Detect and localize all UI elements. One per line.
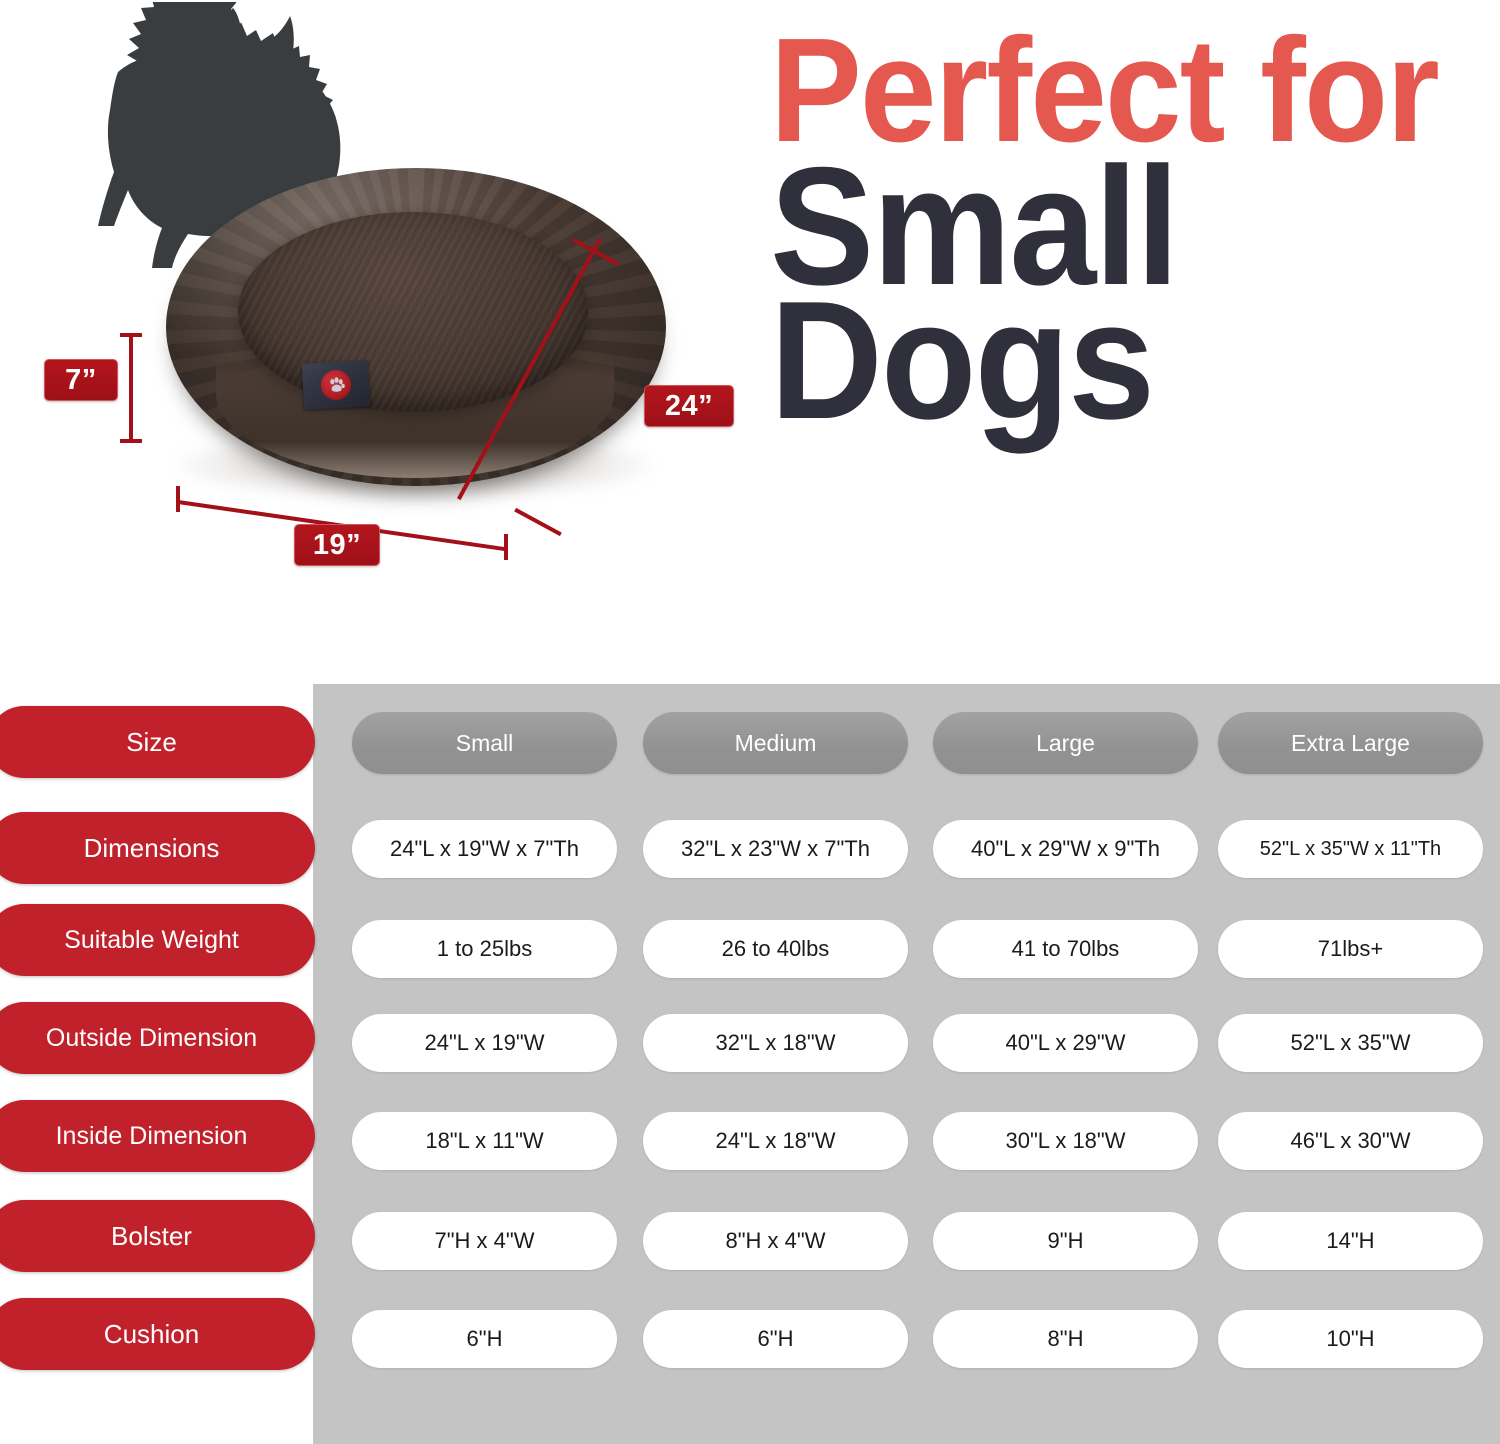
- callout-width: 19”: [294, 524, 380, 566]
- spec-row-label-size: Size: [0, 706, 315, 778]
- spec-cell: 52"L x 35"W: [1218, 1014, 1483, 1072]
- dimension-cap-top: [120, 333, 142, 337]
- specification-table: SizeDimensionsSuitable WeightOutside Dim…: [0, 672, 1500, 1444]
- spec-cell: 18"L x 11"W: [352, 1112, 617, 1170]
- paw-print-icon: [320, 369, 352, 401]
- spec-cell: 6"H: [643, 1310, 908, 1368]
- spec-cell: 24"L x 18"W: [643, 1112, 908, 1170]
- headline-block: Perfect for Small Dogs: [770, 22, 1490, 438]
- spec-row-label-column: SizeDimensionsSuitable WeightOutside Dim…: [0, 672, 320, 1444]
- dimension-cap-bottom: [120, 439, 142, 443]
- spec-cell: 6"H: [352, 1310, 617, 1368]
- hero-section: 7” 19” 24” Perfect for Small Dogs: [0, 0, 1500, 672]
- spec-row-label: Bolster: [0, 1200, 315, 1272]
- spec-cell: 24"L x 19"W x 7"Th: [352, 820, 617, 878]
- spec-cell: 52"L x 35"W x 11"Th: [1218, 820, 1483, 878]
- spec-cell: 32"L x 18"W: [643, 1014, 908, 1072]
- spec-cell: 46"L x 30"W: [1218, 1112, 1483, 1170]
- callout-length: 24”: [644, 385, 734, 427]
- spec-cell: 8"H: [933, 1310, 1198, 1368]
- spec-column-header: Small: [352, 712, 617, 774]
- spec-cell: 14"H: [1218, 1212, 1483, 1270]
- spec-row-label: Inside Dimension: [0, 1100, 315, 1172]
- spec-cell: 10"H: [1218, 1310, 1483, 1368]
- spec-row-label: Dimensions: [0, 812, 315, 884]
- spec-cell: 40"L x 29"W x 9"Th: [933, 820, 1198, 878]
- spec-column-header: Large: [933, 712, 1198, 774]
- spec-cell: 9"H: [933, 1212, 1198, 1270]
- spec-row-label: Cushion: [0, 1298, 315, 1370]
- majestic-pet-brand-tag: [302, 360, 370, 409]
- dimension-cap-lower: [514, 508, 562, 536]
- dimension-cap-left: [176, 486, 180, 512]
- spec-cell: 71lbs+: [1218, 920, 1483, 978]
- spec-cell: 41 to 70lbs: [933, 920, 1198, 978]
- spec-cell: 1 to 25lbs: [352, 920, 617, 978]
- spec-cell: 32"L x 23"W x 7"Th: [643, 820, 908, 878]
- callout-height: 7”: [44, 359, 118, 401]
- spec-row-label: Suitable Weight: [0, 904, 315, 976]
- dimension-cap-right: [504, 534, 508, 560]
- dimension-line-height: [129, 333, 133, 443]
- spec-cell: 26 to 40lbs: [643, 920, 908, 978]
- spec-cell: 40"L x 29"W: [933, 1014, 1198, 1072]
- headline-line-3: Dogs: [770, 282, 1440, 438]
- spec-column-header: Medium: [643, 712, 908, 774]
- spec-column-header: Extra Large: [1218, 712, 1483, 774]
- spec-cell: 24"L x 19"W: [352, 1014, 617, 1072]
- spec-cell: 8"H x 4"W: [643, 1212, 908, 1270]
- spec-cell: 30"L x 18"W: [933, 1112, 1198, 1170]
- spec-cell: 7"H x 4"W: [352, 1212, 617, 1270]
- spec-row-label: Outside Dimension: [0, 1002, 315, 1074]
